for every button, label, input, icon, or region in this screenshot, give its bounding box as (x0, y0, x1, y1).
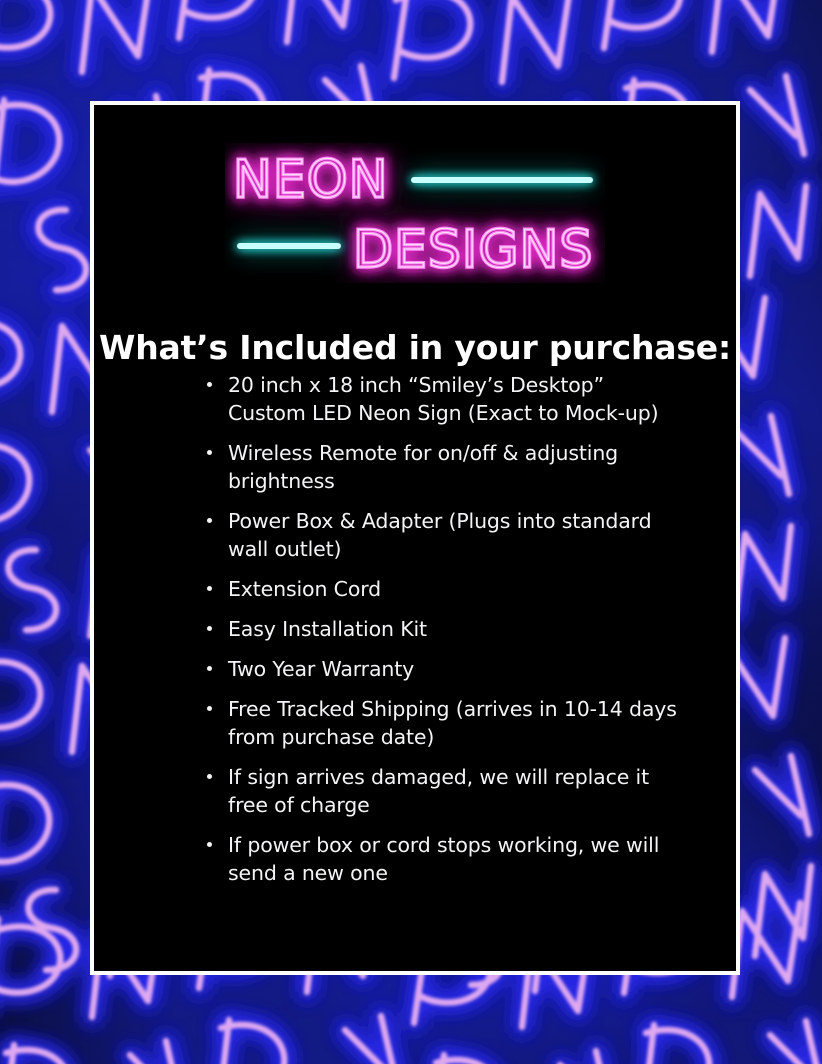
list-item: Free Tracked Shipping (arrives in 10-14 … (207, 695, 677, 751)
list-item-label: Wireless Remote for on/off & adjusting b… (228, 441, 618, 493)
bullet-icon (207, 518, 212, 523)
list-item-label: Free Tracked Shipping (arrives in 10-14 … (228, 697, 677, 749)
content-card: NEON DESIGNS NEON NEON DESIGNS (90, 101, 740, 975)
logo-word-neon: NEON NEON (233, 150, 389, 210)
list-item: Power Box & Adapter (Plugs into standard… (207, 507, 677, 563)
list-item-label: If sign arrives damaged, we will replace… (228, 765, 649, 817)
bullet-icon (207, 842, 212, 847)
list-item-label: Extension Cord (228, 577, 381, 601)
list-item: Two Year Warranty (207, 655, 677, 683)
bullet-icon (207, 450, 212, 455)
svg-text:DESIGNS: DESIGNS (353, 220, 593, 280)
neon-designs-logo-svg: NEON DESIGNS NEON NEON DESIGNS (225, 143, 605, 283)
bullet-icon (207, 666, 212, 671)
list-item: Extension Cord (207, 575, 677, 603)
cyan-neon-bar-bottom (237, 243, 341, 249)
svg-text:NEON: NEON (233, 150, 389, 210)
neon-designs-logo: NEON DESIGNS NEON NEON DESIGNS (94, 143, 736, 283)
list-item-label: 20 inch x 18 inch “Smiley’s Desktop” Cus… (228, 373, 658, 425)
list-item: If power box or cord stops working, we w… (207, 831, 677, 887)
bullet-icon (207, 706, 212, 711)
page-root: NEON DESIGNS NEON NEON DESIGNS (0, 0, 822, 1064)
cyan-neon-bar-top (411, 177, 593, 183)
bullet-icon (207, 382, 212, 387)
list-item: 20 inch x 18 inch “Smiley’s Desktop” Cus… (207, 371, 677, 427)
list-item: Wireless Remote for on/off & adjusting b… (207, 439, 677, 495)
list-item: If sign arrives damaged, we will replace… (207, 763, 677, 819)
list-item-label: If power box or cord stops working, we w… (228, 833, 659, 885)
list-item: Easy Installation Kit (207, 615, 677, 643)
list-item-label: Power Box & Adapter (Plugs into standard… (228, 509, 651, 561)
bullet-icon (207, 586, 212, 591)
bullet-icon (207, 626, 212, 631)
content-card-inner: NEON DESIGNS NEON NEON DESIGNS (94, 105, 736, 971)
logo-word-designs: DESIGNS DESIGNS (353, 220, 593, 280)
list-item-label: Easy Installation Kit (228, 617, 427, 641)
page-title: What’s Included in your purchase: (94, 330, 736, 366)
bullet-icon (207, 774, 212, 779)
included-items-list: 20 inch x 18 inch “Smiley’s Desktop” Cus… (207, 371, 677, 887)
list-item-label: Two Year Warranty (228, 657, 414, 681)
